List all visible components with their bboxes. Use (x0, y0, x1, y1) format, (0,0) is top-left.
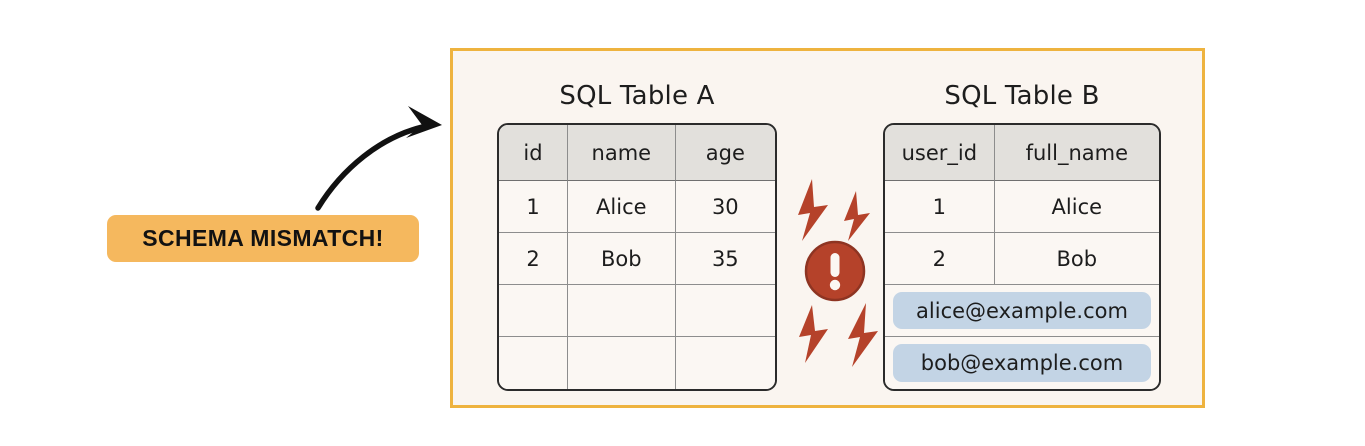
lightning-bolt-icon (844, 191, 870, 241)
diagram-panel: SQL Table A id name age 1 Alice 30 2 (450, 48, 1205, 408)
lightning-bolt-icon (799, 305, 828, 363)
table-a-cell: 30 (676, 181, 775, 233)
table-a-cell-empty (676, 337, 775, 389)
table-a-cell-empty (568, 285, 676, 337)
table-a-block: SQL Table A id name age 1 Alice 30 2 (497, 81, 777, 391)
table-a-title: SQL Table A (497, 81, 777, 111)
email-highlight-pill: bob@example.com (893, 344, 1151, 382)
table-b-cell: 1 (885, 181, 995, 233)
table-b-col-full-name: full_name (995, 125, 1159, 181)
table-a-cell-empty (499, 285, 568, 337)
table-a-col-name: name (568, 125, 676, 181)
schema-mismatch-badge: SCHEMA MISMATCH! (107, 215, 419, 262)
table-row: 1 Alice (885, 181, 1159, 233)
table-b-cell: Bob (995, 233, 1159, 285)
table-b-header-row: user_id full_name (885, 125, 1159, 181)
lightning-bolt-icon (848, 303, 878, 367)
table-a-col-age: age (676, 125, 775, 181)
table-row-highlight: alice@example.com (885, 285, 1159, 337)
table-row: 2 Bob (885, 233, 1159, 285)
table-a-header-row: id name age (499, 125, 775, 181)
table-a-cell: Bob (568, 233, 676, 285)
table-b-title: SQL Table B (883, 81, 1161, 111)
table-row (499, 285, 775, 337)
table-a-cell: 1 (499, 181, 568, 233)
table-b-cell: Alice (995, 181, 1159, 233)
lightning-bolt-icon (798, 179, 828, 241)
table-row (499, 337, 775, 389)
table-a-cell: Alice (568, 181, 676, 233)
table-b-cell: 2 (885, 233, 995, 285)
table-a-cell: 35 (676, 233, 775, 285)
table-b-email-cell: bob@example.com (885, 337, 1159, 389)
schema-mismatch-label: SCHEMA MISMATCH! (142, 225, 384, 252)
email-highlight-pill: alice@example.com (893, 292, 1151, 329)
table-a-col-id: id (499, 125, 568, 181)
annotation-arrow-icon (300, 100, 460, 220)
table-row: 1 Alice 30 (499, 181, 775, 233)
table-b-email-cell: alice@example.com (885, 285, 1159, 337)
sql-table-a: id name age 1 Alice 30 2 Bob 35 (497, 123, 777, 391)
table-a-cell-empty (676, 285, 775, 337)
table-b-col-user-id: user_id (885, 125, 995, 181)
table-row-highlight: bob@example.com (885, 337, 1159, 389)
table-b-block: SQL Table B user_id full_name 1 Alice 2 … (883, 81, 1161, 391)
table-a-cell: 2 (499, 233, 568, 285)
table-row: 2 Bob 35 (499, 233, 775, 285)
alert-circle-icon (806, 242, 864, 300)
table-a-cell-empty (568, 337, 676, 389)
table-a-cell-empty (499, 337, 568, 389)
schema-conflict-warning (788, 171, 888, 371)
sql-table-b: user_id full_name 1 Alice 2 Bob alice@ex… (883, 123, 1161, 391)
